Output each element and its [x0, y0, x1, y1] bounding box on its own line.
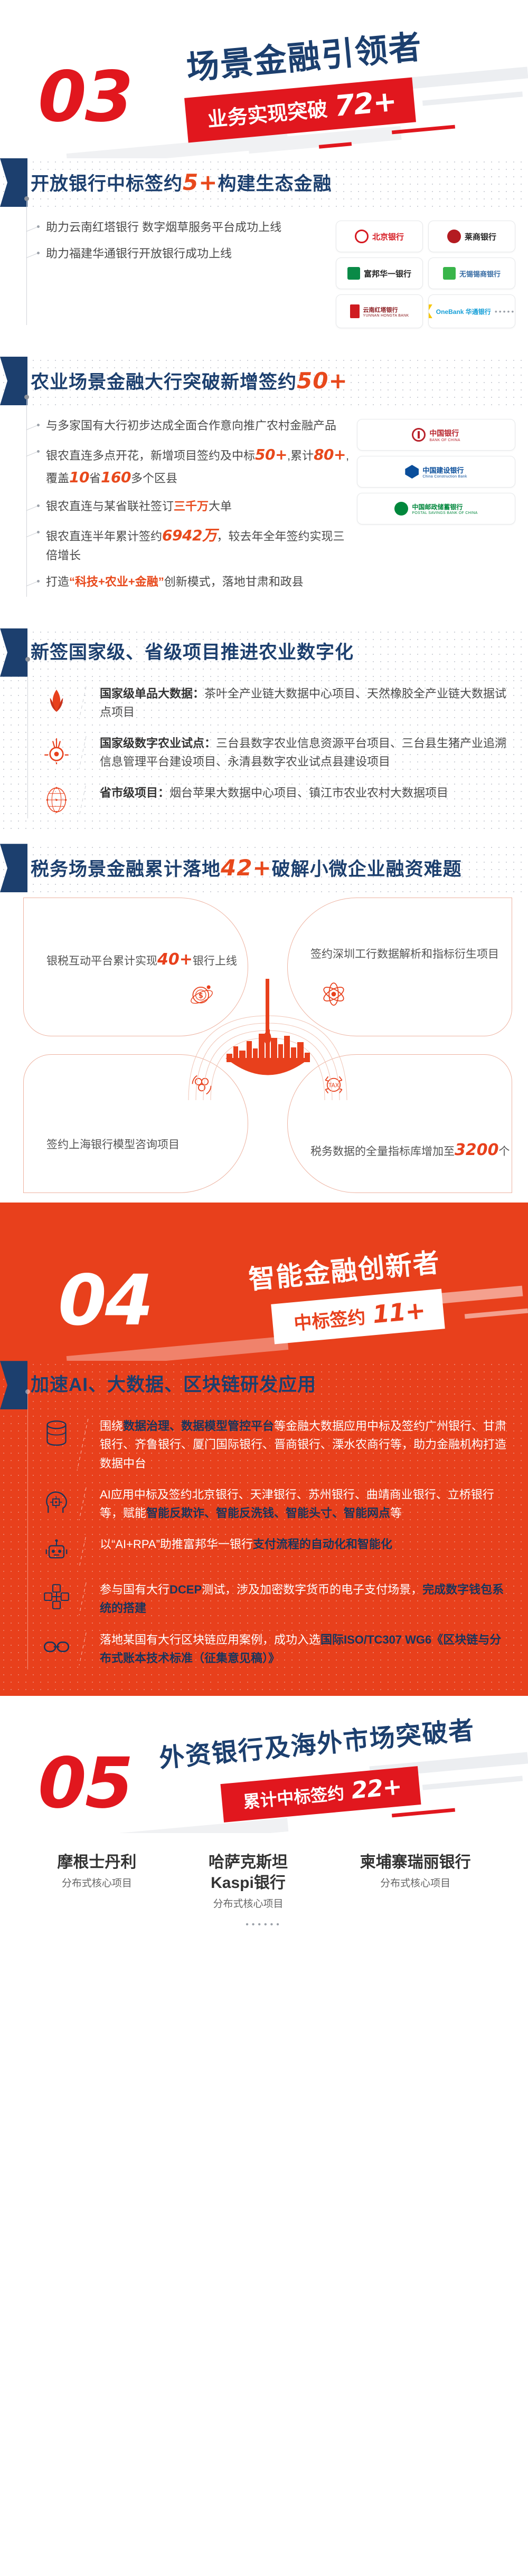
- dashed-separator: [77, 1419, 89, 1471]
- footer-column-name: 摩根士丹利: [57, 1852, 136, 1873]
- plain-text: 等: [390, 1506, 402, 1520]
- logo-label: 中国建设银行 China Construction Bank: [422, 465, 467, 479]
- list-item: 助力云南红塔银行 数字烟草服务平台成功上线: [37, 218, 329, 236]
- logo-label-cn: 中国建设银行: [422, 466, 464, 474]
- highlight-text: “科技+农业+金融”: [69, 575, 164, 588]
- footer-column: 柬埔寨瑞丽银行分布式核心项目: [360, 1852, 471, 1912]
- logo-label-cn: 云南红塔银行: [363, 307, 398, 313]
- logo-label-en: China Construction Bank: [422, 475, 467, 479]
- logo-card-bank-of-beijing: 北京银行: [336, 221, 423, 252]
- national-headline: 新签国家级、省级项目推进农业数字化: [0, 628, 528, 677]
- footer-columns: 摩根士丹利分布式核心项目哈萨克斯坦Kaspi银行分布式核心项目柬埔寨瑞丽银行分布…: [0, 1833, 528, 1917]
- item-text: AI应用中标及签约北京银行、天津银行、苏州银行、曲靖商业银行、立桥银行等，赋能智…: [100, 1485, 507, 1522]
- network-globe-icon: [42, 785, 71, 815]
- logo-card-laishang-bank: 莱商银行: [428, 221, 515, 252]
- open-bank-title: 开放银行中标签约5+构建生态金融: [31, 169, 332, 197]
- plain-text: 落地某国有大行区块链应用案例，成功入选: [100, 1633, 320, 1646]
- item-text: 落地某国有大行区块链应用案例，成功入选国际ISO/TC307 WG6《区块链与分…: [100, 1630, 507, 1667]
- spacer: [0, 343, 528, 357]
- bullet-text: 打造“科技+农业+金融”创新模式，落地甘肃和政县: [46, 573, 304, 591]
- logo-label: 中国银行 BANK OF CHINA: [429, 428, 460, 442]
- bullet-dot-icon: [37, 225, 40, 228]
- highlight-text: 三千万: [174, 500, 209, 513]
- item-label: 省市级项目：: [100, 786, 169, 799]
- section-subtitle-text: 累计中标签约: [242, 1780, 345, 1813]
- title-pre: 农业场景金融大行突破新增签约: [31, 372, 297, 393]
- logo-label-cn: 中国银行: [429, 429, 459, 437]
- list-item: 助力福建华通银行开放银行成功上线: [37, 245, 329, 263]
- list-item: 参与国有大行DCEP测试，涉及加密数字货币的电子支付场景，完成数字钱包系统的搭建: [24, 1580, 507, 1617]
- logo-card-onebank: OneBank 华通银行 ••••••: [428, 294, 515, 328]
- tax-title: 税务场景金融累计落地42+破解小微企业融资难题: [31, 854, 462, 882]
- infographic-page: 03 场景金融引领者 业务实现突破 72+ 开放银行中标签约5+构建生态金融 助…: [0, 0, 528, 1945]
- title-number: 5+: [183, 169, 218, 195]
- list-item: AI应用中标及签约北京银行、天津银行、苏州银行、曲靖商业银行、立桥银行等，赋能智…: [24, 1485, 507, 1522]
- ai-items: 围绕数据治理、数据模型管控平台等金融大数据应用中标及签约广州银行、甘肃银行、齐鲁…: [0, 1409, 528, 1685]
- chain-link-icon: [42, 1632, 71, 1662]
- highlight-number: 80+: [314, 446, 346, 463]
- bullet-dot-icon: [37, 450, 40, 453]
- decorative-slash: [422, 91, 523, 106]
- item-icon-wrapper: [40, 1630, 73, 1663]
- item-icon-wrapper: [40, 1580, 73, 1613]
- section-title-03: 场景金融引领者: [184, 20, 424, 89]
- highlight-number: 160: [101, 469, 131, 486]
- logo-label: 中国邮政储蓄银行 POSTAL SAVINGS BANK OF CHINA: [412, 502, 477, 515]
- logo-card-ccb: 中国建设银行 China Construction Bank: [357, 456, 515, 488]
- blockchain-icon: [42, 1582, 71, 1611]
- onebank-icon: [428, 304, 432, 318]
- headline-tab-shape: [0, 158, 27, 207]
- open-bank-bullets: 助力云南红塔银行 数字烟草服务平台成功上线 助力福建华通银行开放银行成功上线: [23, 218, 329, 328]
- footer-column: 哈萨克斯坦Kaspi银行分布式核心项目: [209, 1852, 288, 1912]
- dashed-separator: [79, 1582, 86, 1615]
- ai-brain-icon: [42, 1487, 71, 1516]
- bullet-text: 助力福建华通银行开放银行成功上线: [46, 245, 232, 263]
- headline-tab-shape: [0, 628, 27, 677]
- open-bank-body: 助力云南红塔银行 数字烟草服务平台成功上线 助力福建华通银行开放银行成功上线 北…: [0, 207, 528, 333]
- agri-headline: 农业场景金融大行突破新增签约50+: [0, 357, 528, 405]
- logo-label: 云南红塔银行 YUNNAN HONGTA BANK: [363, 306, 409, 318]
- footer-column-desc: 分布式核心项目: [360, 1877, 471, 1891]
- footer-more-ellipsis: ••••••: [0, 1917, 528, 1945]
- national-items: 国家级单品大数据：茶叶全产业链大数据中心项目、天然橡胶全产业链大数据试点项目国家…: [0, 677, 528, 835]
- psbc-icon: [394, 502, 408, 516]
- section-subtitle-05: 累计中标签约 22+: [220, 1766, 421, 1823]
- tax-quadrant-panel: 银税互动平台累计实现40+银行上线 $ 签约深圳工行数据解析和指标衍生项目: [23, 898, 512, 1193]
- bullet-text: 银农直连半年累计签约6942万，较去年全年签约实现三倍增长: [46, 524, 351, 565]
- section-subtitle-text: 业务实现突破: [206, 92, 328, 132]
- title-pre: 税务场景金融累计落地: [31, 859, 221, 880]
- ccb-icon: [405, 465, 419, 479]
- bullet-dot-icon: [37, 424, 40, 426]
- logo-label: OneBank 华通银行: [436, 307, 491, 316]
- bullet-dot-icon: [37, 252, 40, 254]
- fubon-bank-icon: [347, 267, 360, 280]
- headline-tab-shape: [0, 357, 27, 405]
- list-item: 银农直连多点开花，新增项目签约及中标50+,累计80+,覆盖10省160多个区县: [37, 443, 351, 489]
- logo-label-en: POSTAL SAVINGS BANK OF CHINA: [412, 511, 477, 515]
- logo-more-ellipsis: ••••••: [495, 307, 515, 316]
- logo-card-fubon-bank: 富邦华一银行: [336, 257, 423, 289]
- national-title: 新签国家级、省级项目推进农业数字化: [31, 641, 354, 664]
- item-text: 省市级项目：烟台苹果大数据中心项目、镇江市农业农村大数据项目: [100, 784, 507, 802]
- agri-title: 农业场景金融大行突破新增签约50+: [31, 367, 348, 395]
- section-open-bank: 开放银行中标签约5+构建生态金融 助力云南红塔银行 数字烟草服务平台成功上线 助…: [0, 158, 528, 343]
- headline-tab-shape: [0, 844, 27, 892]
- bullet-dot-icon: [37, 580, 40, 583]
- list-item: 银农直连与某省联社签订三千万大单: [37, 498, 351, 516]
- section-number-04: 04: [58, 1266, 152, 1335]
- wuxi-xishang-bank-icon: [443, 267, 456, 280]
- emphasis-text: 数据治理、数据模型管控平台: [123, 1419, 274, 1433]
- section-national-projects: 新签国家级、省级项目推进农业数字化 国家级单品大数据：茶叶全产业链大数据中心项目…: [0, 628, 528, 844]
- open-bank-headline: 开放银行中标签约5+构建生态金融: [0, 158, 528, 207]
- item-text: 国家级数字农业试点：三台县数字农业信息资源平台项目、三台县生猪产业追溯信息管理平…: [100, 734, 507, 771]
- bullet-dot-icon: [37, 504, 40, 507]
- logo-label-cn: 中国邮政储蓄银行: [412, 503, 463, 511]
- headline-tab-shape: [0, 1361, 27, 1409]
- list-item: 国家级单品大数据：茶叶全产业链大数据中心项目、天然橡胶全产业链大数据试点项目: [24, 684, 507, 721]
- logo-label-en: YUNNAN HONGTA BANK: [363, 314, 409, 318]
- section-title-04: 智能金融创新者: [247, 1242, 441, 1297]
- highlight-number: 10: [69, 469, 89, 486]
- tax-headline: 税务场景金融累计落地42+破解小微企业融资难题: [0, 844, 528, 892]
- decorative-tick: [392, 1808, 455, 1818]
- dashed-separator: [79, 786, 86, 814]
- tea-leaf-icon: [42, 686, 71, 715]
- decorative-slash: [422, 1776, 523, 1790]
- section-agriculture: 农业场景金融大行突破新增签约50+ 与多家国有大行初步达成全面合作意向推广农村金…: [0, 357, 528, 615]
- plain-text: 银农直连半年累计签约: [46, 530, 162, 543]
- bullet-text: 助力云南红塔银行 数字烟草服务平台成功上线: [46, 218, 281, 236]
- section-subtitle-text: 中标签约: [293, 1303, 366, 1335]
- plain-text: 大单: [209, 500, 232, 513]
- ai-headline: 加速AI、大数据、区块链研发应用: [0, 1361, 528, 1409]
- bullet-text: 与多家国有大行初步达成全面合作意向推广农村金融产品: [46, 417, 336, 435]
- highlight-number: 6942万: [162, 527, 216, 544]
- item-text: 以“AI+RPA”助推富邦华一银行支付流程的自动化和智能化: [100, 1535, 507, 1553]
- dashed-separator: [79, 1537, 86, 1566]
- logo-label-en: BANK OF CHINA: [429, 438, 460, 442]
- item-label: 国家级数字农业试点：: [100, 737, 216, 750]
- title-post: 构建生态金融: [218, 174, 332, 194]
- list-item: 与多家国有大行初步达成全面合作意向推广农村金融产品: [37, 417, 351, 435]
- title-post: 破解小微企业融资难题: [272, 859, 462, 880]
- plain-text: 以“AI+RPA”助推富邦华一银行: [100, 1538, 253, 1551]
- open-bank-logo-grid: 北京银行 莱商银行 富邦华一银行 无锡锡商银行 云南红塔银行: [336, 218, 515, 328]
- bank-of-beijing-icon: [355, 230, 369, 243]
- plain-text: 创新模式，落地甘肃和政县: [164, 575, 304, 588]
- agri-bullets: 与多家国有大行初步达成全面合作意向推广农村金融产品银农直连多点开花，新增项目签约…: [23, 417, 351, 600]
- bank-of-china-icon: [412, 428, 426, 442]
- plain-text: 多个区县: [131, 472, 177, 485]
- logo-label: 莱商银行: [465, 231, 496, 242]
- item-label: 国家级单品大数据：: [100, 687, 204, 700]
- logo-card-yunnan-hongta-bank: 云南红塔银行 YUNNAN HONGTA BANK: [336, 294, 423, 328]
- list-item: 国家级数字农业试点：三台县数字农业信息资源平台项目、三台县生猪产业追溯信息管理平…: [24, 734, 507, 771]
- logo-card-wuxi-xishang-bank: 无锡锡商银行: [428, 257, 515, 289]
- logo-label: 富邦华一银行: [364, 268, 411, 279]
- item-icon-wrapper: [40, 684, 73, 717]
- item-icon-wrapper: [40, 1535, 73, 1568]
- footer-column-desc: 分布式核心项目: [209, 1897, 288, 1912]
- emphasis-text: 智能反欺诈、智能反洗钱、智能头寸、智能网点: [146, 1506, 390, 1520]
- ai-title: 加速AI、大数据、区块链研发应用: [31, 1373, 316, 1397]
- plain-text: 银农直连多点开花，新增项目签约及中标: [46, 449, 255, 462]
- logo-card-bank-of-china: 中国银行 BANK OF CHINA: [357, 419, 515, 451]
- logo-label: 无锡锡商银行: [459, 269, 501, 279]
- section-ai-bigdata-blockchain: 加速AI、大数据、区块链研发应用 围绕数据治理、数据模型管控平台等金融大数据应用…: [0, 1361, 528, 1696]
- yunnan-hongta-bank-icon: [350, 304, 360, 318]
- section-banner-04: 04 智能金融创新者 中标签约 11+: [0, 1203, 528, 1361]
- item-icon-wrapper: [40, 1417, 73, 1449]
- title-number: 50+: [297, 368, 348, 394]
- footer-column: 摩根士丹利分布式核心项目: [57, 1852, 136, 1912]
- highlight-number: 50+: [255, 446, 287, 463]
- decorative-tick: [392, 125, 455, 135]
- section-subtitle-number: 22+: [350, 1773, 402, 1804]
- section-banner-03: 03 场景金融引领者 业务实现突破 72+: [0, 0, 528, 158]
- plain-text: 参与国有大行: [100, 1583, 169, 1596]
- footer-column-desc: 分布式核心项目: [57, 1877, 136, 1891]
- agri-body: 与多家国有大行初步达成全面合作意向推广农村金融产品银农直连多点开花，新增项目签约…: [0, 405, 528, 605]
- database-icon: [42, 1418, 71, 1448]
- robot-icon: [42, 1537, 71, 1566]
- plain-text: ,累计: [287, 449, 314, 462]
- section-number-03: 03: [38, 62, 132, 132]
- item-text: 围绕数据治理、数据模型管控平台等金融大数据应用中标及签约广州银行、甘肃银行、齐鲁…: [100, 1417, 507, 1473]
- plain-text: 围绕: [100, 1419, 123, 1433]
- dashed-separator: [79, 1487, 86, 1520]
- logo-label: 北京银行: [372, 231, 404, 242]
- plain-text: 测试，涉及加密数字货币的电子支付场景，: [202, 1583, 422, 1596]
- logo-card-psbc: 中国邮政储蓄银行 POSTAL SAVINGS BANK OF CHINA: [357, 493, 515, 524]
- dashed-separator: [79, 1633, 86, 1665]
- spacer: [0, 615, 528, 628]
- list-item: 围绕数据治理、数据模型管控平台等金融大数据应用中标及签约广州银行、甘肃银行、齐鲁…: [24, 1417, 507, 1473]
- section-number-05: 05: [38, 1749, 132, 1818]
- list-item: 落地某国有大行区块链应用案例，成功入选国际ISO/TC307 WG6《区块链与分…: [24, 1630, 507, 1667]
- list-item: 银农直连半年累计签约6942万，较去年全年签约实现三倍增长: [37, 524, 351, 565]
- plain-text: 银农直连与某省联社签订: [46, 500, 174, 513]
- item-icon-wrapper: [40, 784, 73, 816]
- plain-text: 省: [89, 472, 101, 485]
- item-text: 参与国有大行DCEP测试，涉及加密数字货币的电子支付场景，完成数字钱包系统的搭建: [100, 1580, 507, 1617]
- section-banner-05: 05 外资银行及海外市场突破者 累计中标签约 22+: [0, 1696, 528, 1833]
- dashed-separator: [79, 686, 86, 719]
- section-subtitle-number: 11+: [371, 1296, 426, 1329]
- item-icon-wrapper: [40, 734, 73, 767]
- bullet-text: 银农直连与某省联社签订三千万大单: [46, 498, 232, 516]
- agri-logo-grid: 中国银行 BANK OF CHINA 中国建设银行 China Construc…: [357, 417, 515, 600]
- plain-text: 打造: [46, 575, 69, 588]
- footer-column-name: 哈萨克斯坦Kaspi银行: [209, 1852, 288, 1893]
- list-item: 省市级项目：烟台苹果大数据中心项目、镇江市农业农村大数据项目: [24, 784, 507, 816]
- emphasis-text: 支付流程的自动化和智能化: [253, 1538, 392, 1551]
- laishang-bank-icon: [447, 230, 461, 243]
- list-item: 打造“科技+农业+金融”创新模式，落地甘肃和政县: [37, 573, 351, 591]
- footer-column-name: 柬埔寨瑞丽银行: [360, 1852, 471, 1873]
- title-number: 42+: [221, 855, 272, 881]
- item-text: 国家级单品大数据：茶叶全产业链大数据中心项目、天然橡胶全产业链大数据试点项目: [100, 684, 507, 721]
- title-pre: 开放银行中标签约: [31, 174, 183, 194]
- item-icon-wrapper: [40, 1485, 73, 1518]
- city-skyline-umbrella-icon: [178, 979, 357, 1100]
- bullet-text: 银农直连多点开花，新增项目签约及中标50+,累计80+,覆盖10省160多个区县: [46, 443, 351, 489]
- wheat-gear-icon: [42, 736, 71, 765]
- emphasis-text: DCEP: [169, 1583, 202, 1596]
- section-subtitle-number: 72+: [333, 84, 398, 123]
- bullet-dot-icon: [37, 531, 40, 533]
- section-subtitle-04: 中标签约 11+: [271, 1289, 445, 1344]
- dashed-separator: [79, 736, 86, 769]
- list-item: 以“AI+RPA”助推富邦华一银行支付流程的自动化和智能化: [24, 1535, 507, 1568]
- section-tax: 税务场景金融累计落地42+破解小微企业融资难题 银税互动平台累计实现40+银行上…: [0, 844, 528, 1203]
- decorative-slash: [465, 1309, 528, 1319]
- plain-text: 与多家国有大行初步达成全面合作意向推广农村金融产品: [46, 419, 336, 432]
